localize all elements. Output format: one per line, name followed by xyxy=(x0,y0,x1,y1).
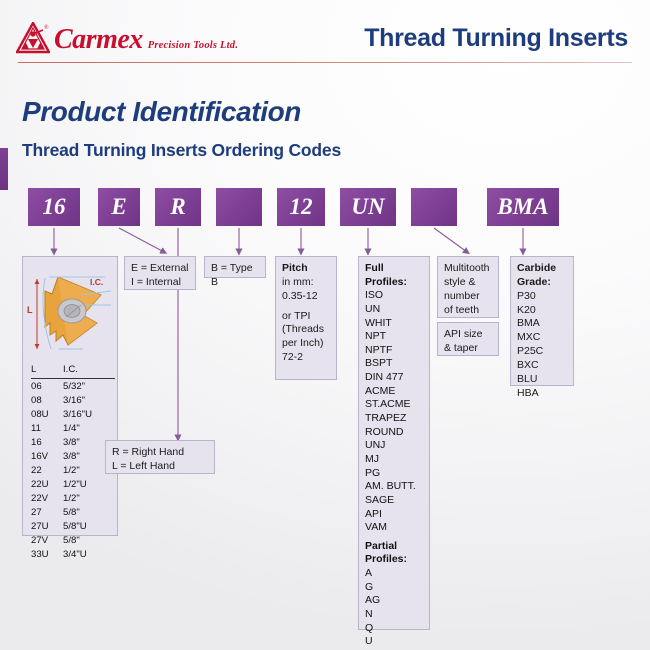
document-title: Thread Turning Inserts xyxy=(364,24,628,53)
full-profile-item: VAM xyxy=(365,521,423,535)
full-profile-item: PG xyxy=(365,467,423,481)
full-profiles-title-2: Profiles: xyxy=(365,276,423,290)
code-box-grade[interactable]: BMA xyxy=(487,188,559,226)
dimension-label-ic: I.C. xyxy=(90,277,103,287)
pitch-tpi-desc2: per Inch) xyxy=(282,337,323,349)
size-table-row: 163/8" xyxy=(31,436,115,450)
size-table-cell-l: 16 xyxy=(31,436,63,450)
size-table-row: 083/16" xyxy=(31,394,115,408)
full-profiles-list: Full Profiles: ISOUNWHITNPTNPTFBSPTDIN 4… xyxy=(365,262,423,649)
full-profile-item: API xyxy=(365,508,423,522)
size-table-row: 27U5/8"U xyxy=(31,520,115,534)
size-table-cell-l: 22V xyxy=(31,492,63,506)
size-table-cell-ic: 3/4"U xyxy=(63,548,115,562)
size-table-header-l: L xyxy=(31,363,63,378)
carbide-grade-item: BXC xyxy=(517,359,567,373)
internal-line: I = Internal xyxy=(131,276,181,288)
code-box-size[interactable]: 16 xyxy=(28,188,80,226)
carmex-triangle-logo-icon: ® xyxy=(16,22,50,54)
carbide-grade-item: BMA xyxy=(517,317,567,331)
dimension-label-l: L xyxy=(27,305,33,315)
size-table: L I.C. 065/32"083/16"08U3/16"U111/4"163/… xyxy=(31,363,115,562)
size-table-row: 221/2" xyxy=(31,464,115,478)
code-box-multitooth[interactable] xyxy=(411,188,457,226)
full-profiles-title-1: Full xyxy=(365,262,423,276)
full-profile-item: NPTF xyxy=(365,344,423,358)
carbide-grade-item: MXC xyxy=(517,331,567,345)
threading-insert-icon xyxy=(23,261,117,359)
code-box-pitch[interactable]: 12 xyxy=(277,188,325,226)
full-profile-item: DIN 477 xyxy=(365,371,423,385)
size-table-body: 065/32"083/16"08U3/16"U111/4"163/8"16V3/… xyxy=(31,380,115,562)
size-table-cell-ic: 5/32" xyxy=(63,380,115,394)
full-profile-item: TRAPEZ xyxy=(365,412,423,426)
brand-name: Carmex xyxy=(54,26,143,54)
partial-profile-item: A xyxy=(365,567,423,581)
size-table-cell-ic: 3/16" xyxy=(63,394,115,408)
svg-text:®: ® xyxy=(44,24,49,31)
carbide-grade-box: Carbide Grade: P30K20BMAMXCP25CBXCBLUHBA xyxy=(510,256,574,386)
carbide-grade-item: P30 xyxy=(517,290,567,304)
brand-tagline: Precision Tools Ltd. xyxy=(148,40,238,51)
partial-profile-item: U xyxy=(365,635,423,649)
size-table-cell-l: 08U xyxy=(31,408,63,422)
size-table-cell-l: 16V xyxy=(31,450,63,464)
partial-profile-item: AG xyxy=(365,594,423,608)
size-table-cell-l: 22 xyxy=(31,464,63,478)
full-profile-item: MJ xyxy=(365,453,423,467)
code-box-type[interactable]: R xyxy=(155,188,201,226)
partial-profile-item: G xyxy=(365,581,423,595)
size-table-row: 33U3/4"U xyxy=(31,548,115,562)
size-table-cell-ic: 1/4" xyxy=(63,422,115,436)
full-profile-item: ST.ACME xyxy=(365,398,423,412)
full-profile-item: UNJ xyxy=(365,439,423,453)
multitooth-line-2: style & xyxy=(444,276,476,288)
size-table-cell-ic: 5/8" xyxy=(63,506,115,520)
full-profile-item: ROUND xyxy=(365,426,423,440)
page-title: Product Identification xyxy=(22,96,301,128)
page-header: ® Carmex Precision Tools Ltd. Thread Tur… xyxy=(0,0,650,72)
partial-profile-item: N xyxy=(365,608,423,622)
pitch-tpi-desc1: (Threads xyxy=(282,323,324,335)
hand-direction-box: R = Right Hand L = Left Hand xyxy=(105,440,215,474)
size-table-cell-ic: 1/2" xyxy=(63,492,115,506)
size-table-cell-l: 27V xyxy=(31,534,63,548)
size-table-row: 16V3/8" xyxy=(31,450,115,464)
full-profile-item: SAGE xyxy=(365,494,423,508)
partial-profile-item: Q xyxy=(365,622,423,636)
size-table-row: 27V5/8" xyxy=(31,534,115,548)
full-profile-item: UN xyxy=(365,303,423,317)
carbide-grade-item: K20 xyxy=(517,304,567,318)
full-profile-item: BSPT xyxy=(365,357,423,371)
api-line-1: API size xyxy=(444,328,483,340)
full-profile-item: WHIT xyxy=(365,317,423,331)
size-table-cell-l: 11 xyxy=(31,422,63,436)
size-table-header: L I.C. xyxy=(31,363,115,379)
size-table-row: 065/32" xyxy=(31,380,115,394)
size-table-row: 275/8" xyxy=(31,506,115,520)
carbide-grade-item: HBA xyxy=(517,387,567,401)
size-table-cell-l: 06 xyxy=(31,380,63,394)
partial-profiles-title-1: Partial xyxy=(365,540,423,554)
pitch-tpi-label: or TPI xyxy=(282,310,310,322)
size-table-cell-l: 22U xyxy=(31,478,63,492)
full-profile-item: ISO xyxy=(365,289,423,303)
left-hand-line: L = Left Hand xyxy=(112,460,175,472)
size-table-cell-ic: 5/8"U xyxy=(63,520,115,534)
size-table-cell-l: 27 xyxy=(31,506,63,520)
carbide-grade-items: P30K20BMAMXCP25CBXCBLUHBA xyxy=(517,290,567,401)
code-box-profile[interactable]: UN xyxy=(340,188,396,226)
full-profile-item: AM. BUTT. xyxy=(365,480,423,494)
size-table-cell-ic: 1/2"U xyxy=(63,478,115,492)
size-table-row: 22U1/2"U xyxy=(31,478,115,492)
full-profile-item: NPT xyxy=(365,330,423,344)
header-divider xyxy=(18,62,632,63)
size-table-row: 22V1/2" xyxy=(31,492,115,506)
full-profiles-items: ISOUNWHITNPTNPTFBSPTDIN 477ACMEST.ACMETR… xyxy=(365,289,423,535)
pitch-title: Pitch xyxy=(282,262,330,276)
multitooth-line-1: Multitooth xyxy=(444,262,490,274)
size-table-cell-l: 08 xyxy=(31,394,63,408)
size-table-row: 08U3/16"U xyxy=(31,408,115,422)
pitch-box: Pitch in mm: 0.35-12 or TPI (Threads per… xyxy=(275,256,337,380)
partial-profiles-items: AGAGNQU xyxy=(365,567,423,649)
multitooth-box: Multitooth style & number of teeth xyxy=(437,256,499,318)
type-box: B = Type B xyxy=(204,256,266,278)
size-table-cell-ic: 5/8" xyxy=(63,534,115,548)
thread-profiles-box: Full Profiles: ISOUNWHITNPTNPTFBSPTDIN 4… xyxy=(358,256,430,630)
size-table-cell-l: 27U xyxy=(31,520,63,534)
partial-profiles-title-2: Profiles: xyxy=(365,553,423,567)
size-table-cell-ic: 3/16"U xyxy=(63,408,115,422)
multitooth-line-3: number xyxy=(444,290,480,302)
external-internal-box: E = External I = Internal xyxy=(124,256,196,290)
size-table-row: 111/4" xyxy=(31,422,115,436)
carbide-title-2: Grade: xyxy=(517,276,567,290)
api-line-2: & taper xyxy=(444,342,478,354)
size-table-cell-l: 33U xyxy=(31,548,63,562)
carbide-title-1: Carbide xyxy=(517,262,567,276)
page-subtitle: Thread Turning Inserts Ordering Codes xyxy=(22,140,341,161)
api-size-box: API size & taper xyxy=(437,322,499,356)
multitooth-line-4: of teeth xyxy=(444,304,479,316)
pitch-tpi-range: 72-2 xyxy=(282,351,303,363)
pitch-mm-label: in mm: xyxy=(282,276,314,288)
external-line: E = External xyxy=(131,262,189,274)
pitch-mm-range: 0.35-12 xyxy=(282,290,318,302)
left-accent-bar xyxy=(0,148,8,190)
code-box-external-internal[interactable]: E xyxy=(98,188,140,226)
carbide-grade-item: P25C xyxy=(517,345,567,359)
carmex-logo: ® Carmex Precision Tools Ltd. xyxy=(16,22,238,54)
code-box-hand[interactable] xyxy=(216,188,262,226)
full-profile-item: ACME xyxy=(365,385,423,399)
insert-diagram-box: L I.C. L I.C. 065/32"083/16"08U3/16"U111… xyxy=(22,256,118,536)
carbide-grade-item: BLU xyxy=(517,373,567,387)
size-table-header-ic: I.C. xyxy=(63,363,115,378)
right-hand-line: R = Right Hand xyxy=(112,446,184,458)
